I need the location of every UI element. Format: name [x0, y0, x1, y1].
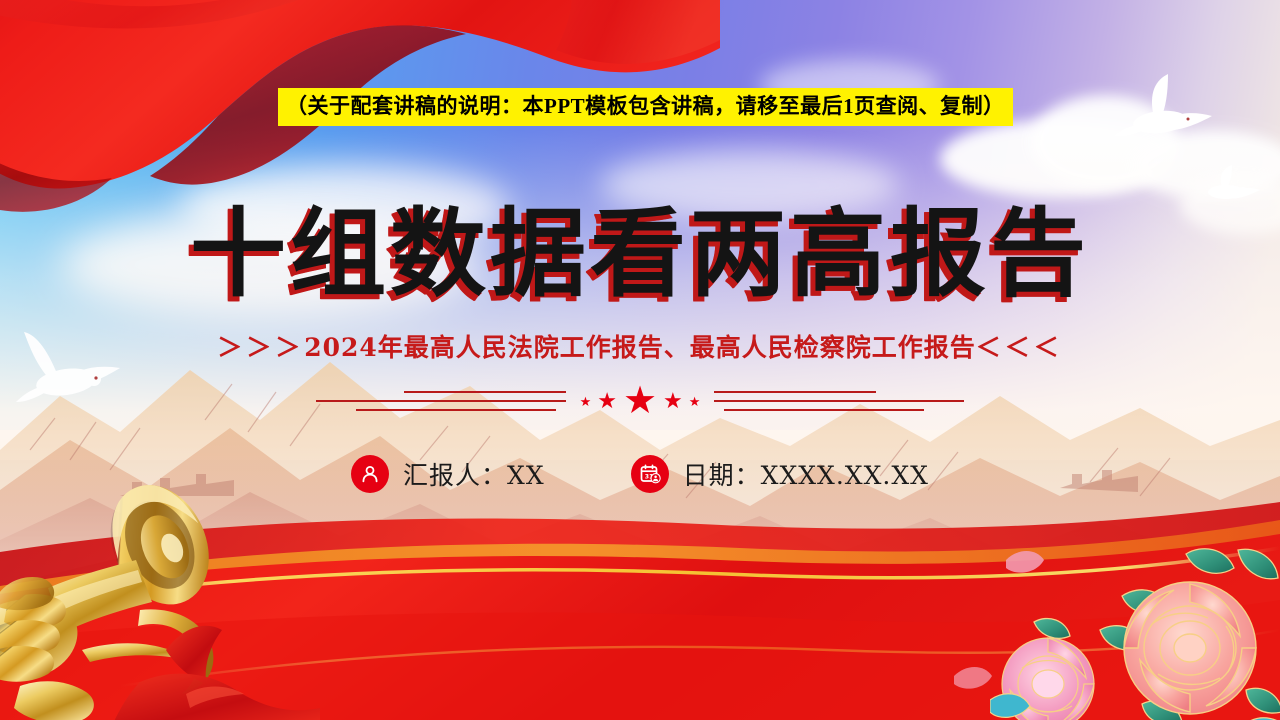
- dove-top-right-large-icon: [1108, 74, 1224, 163]
- calendar-icon: 31: [631, 455, 669, 493]
- star-icon: ★: [597, 390, 617, 412]
- page-title: 十组数据看两高报告: [190, 198, 1090, 310]
- subtitle-prefix-arrows: ＞＞＞: [217, 335, 304, 362]
- divider-lines-right: [714, 386, 964, 416]
- date-item: 31 日期：XXXX.XX.XX: [631, 455, 929, 493]
- date-label: 日期：XXXX.XX.XX: [683, 456, 929, 492]
- star-icon: ★: [689, 395, 701, 408]
- notice-banner: （关于配套讲稿的说明：本PPT模板包含讲稿，请移至最后1页查阅、复制）: [278, 88, 1013, 126]
- presenter-label: 汇报人：XX: [403, 456, 545, 492]
- meta-row: 汇报人：XX 31 日期：XXXX.XX.XX: [0, 455, 1280, 493]
- person-icon: [351, 455, 389, 493]
- star-icon: ★: [623, 382, 657, 420]
- title-slide: （关于配套讲稿的说明：本PPT模板包含讲稿，请移至最后1页查阅、复制） 十组数据…: [0, 0, 1280, 720]
- page-title-wrap: 十组数据看两高报告: [0, 198, 1280, 310]
- peony-decoration: [990, 544, 1280, 720]
- subtitle: ＞＞＞2024年最高人民法院工作报告、最高人民检察院工作报告＜＜＜: [0, 328, 1280, 364]
- subtitle-text: 2024年最高人民法院工作报告、最高人民检察院工作报告: [304, 333, 976, 362]
- star-icon: ★: [663, 390, 683, 412]
- star-divider: ★ ★ ★ ★ ★: [0, 378, 1280, 424]
- presenter-item: 汇报人：XX: [351, 455, 545, 493]
- star-icon: ★: [580, 395, 592, 408]
- divider-lines-left: [316, 386, 566, 416]
- subtitle-suffix-arrows: ＜＜＜: [976, 335, 1063, 362]
- divider-stars: ★ ★ ★ ★ ★: [566, 382, 715, 420]
